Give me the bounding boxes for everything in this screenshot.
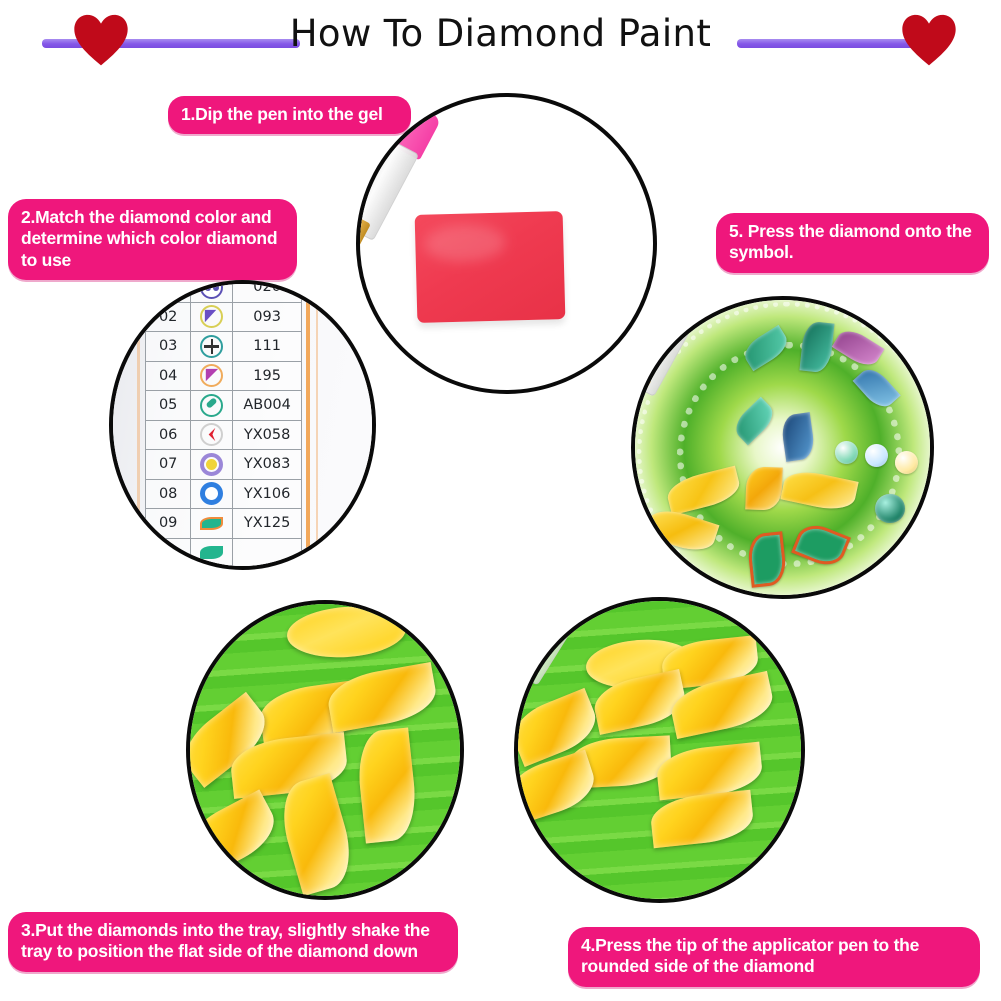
triangle-icon [200,364,223,387]
plus-icon [200,335,223,358]
row-symbol [191,538,233,568]
chart-margin-line [137,280,140,570]
table-row: 06 YX058 [146,420,302,450]
row-index: 08 [146,479,191,509]
row-code: 020 [233,280,302,302]
table-row: 02 093 [146,302,302,332]
filled-circle-icon [200,453,223,476]
arrow-left-icon [200,423,223,446]
row-code [233,538,302,568]
row-index: 03 [146,332,191,362]
table-row: 03 111 [146,332,302,362]
row-code: 195 [233,361,302,391]
photo-pen-pickup [514,597,805,903]
row-symbol [191,450,233,480]
row-code: 111 [233,332,302,362]
step-3-label: 3.Put the diamonds into the tray, slight… [8,912,458,972]
row-index: 05 [146,391,191,421]
page-title: How To Diamond Paint [0,12,1001,55]
table-row: 04 195 [146,361,302,391]
row-index: 04 [146,361,191,391]
table-row: 05 AB004 [146,391,302,421]
chart-margin-line [306,280,310,570]
row-symbol [191,332,233,362]
row-index: 02 [146,302,191,332]
ring-icon [200,482,223,505]
row-code: YX125 [233,509,302,539]
table-row: 09 YX125 [146,509,302,539]
row-index: 01 [146,280,191,302]
row-symbol [191,391,233,421]
photo-pen-gel [356,93,657,394]
row-index: 10 [146,538,191,568]
photo-press-canvas [631,296,934,599]
row-index: 09 [146,509,191,539]
leaf-icon [200,541,223,564]
gel-pad [415,211,566,323]
table-row: 10 [146,538,302,568]
row-symbol [191,361,233,391]
row-symbol [191,479,233,509]
row-index: 07 [146,450,191,480]
infographic-canvas: How To Diamond Paint 1.Dip the pen into … [0,0,1001,1001]
diamond-gem [895,451,918,474]
row-code: 093 [233,302,302,332]
row-code: YX083 [233,450,302,480]
row-code: AB004 [233,391,302,421]
table-row: 07 YX083 [146,450,302,480]
row-code: YX058 [233,420,302,450]
photo-diamond-tray [186,600,464,900]
chart-margin-line [316,280,318,570]
header: How To Diamond Paint [0,0,1001,80]
row-symbol [191,420,233,450]
leaf-icon [200,512,223,535]
row-symbol [191,302,233,332]
diamond-gem [875,494,905,524]
capsule-icon [200,394,223,417]
step-2-label: 2.Match the diamond color and determine … [8,199,297,280]
table-row: 01 020 [146,280,302,302]
table-row: 08 YX106 [146,479,302,509]
row-symbol [191,280,233,302]
row-symbol [191,509,233,539]
color-symbol-table: 01 020 02 [145,280,302,568]
double-dot-icon [200,280,223,299]
step-5-label: 5. Press the diamond onto the symbol. [716,213,989,273]
step-4-label: 4.Press the tip of the applicator pen to… [568,927,980,987]
row-index: 06 [146,420,191,450]
triangle-icon [200,305,223,328]
row-code: YX106 [233,479,302,509]
photo-color-chart: 01 020 02 [109,280,376,570]
